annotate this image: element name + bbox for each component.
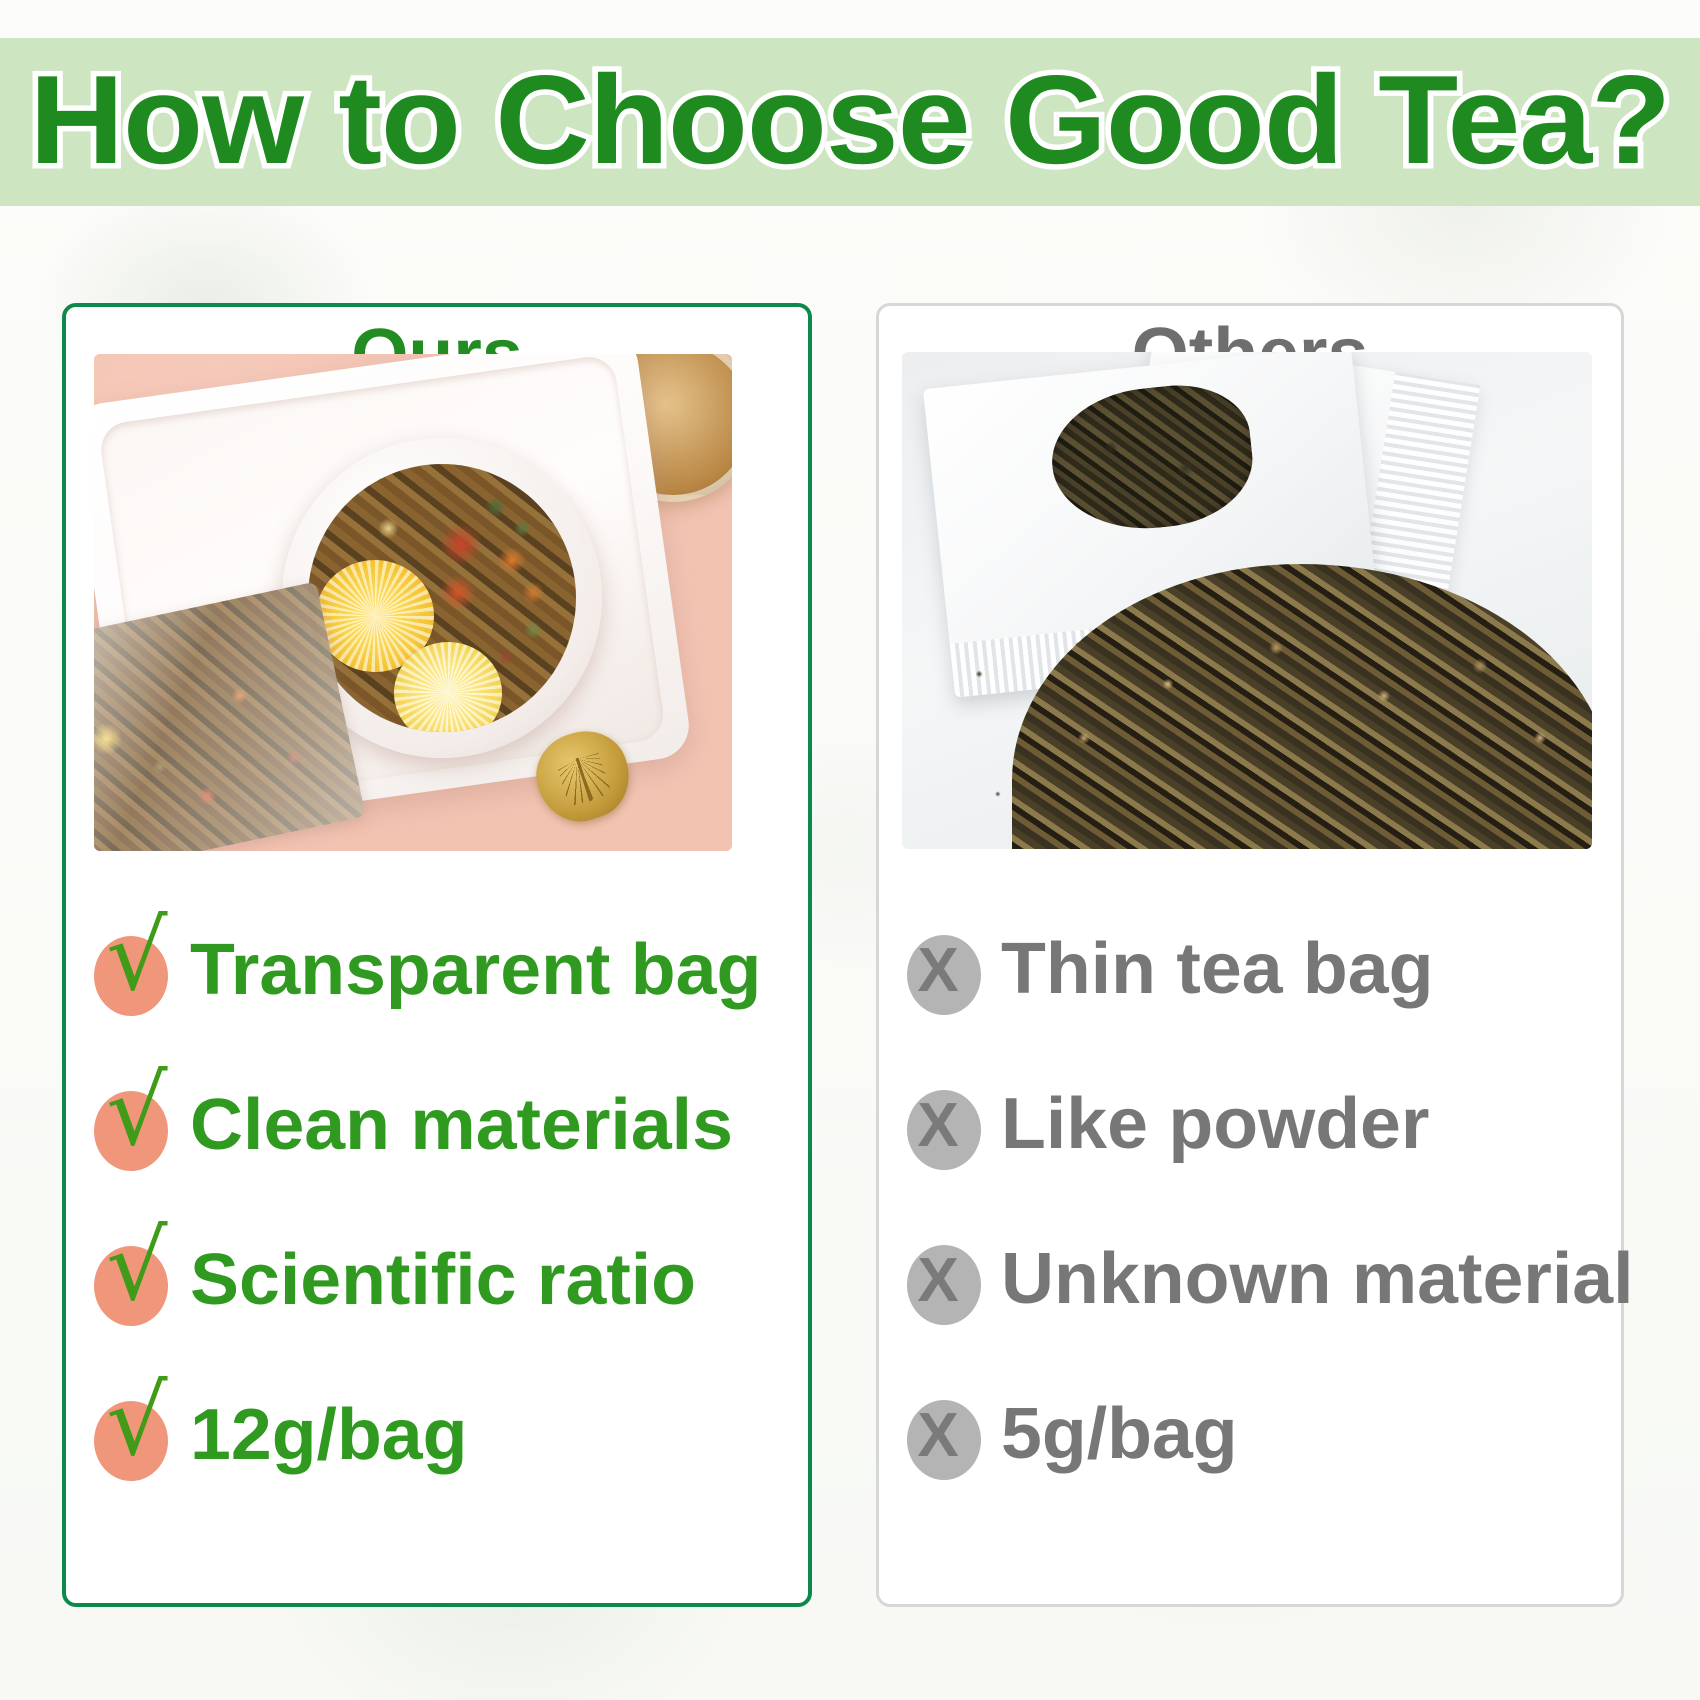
x-icon-glyph: X xyxy=(901,1392,975,1480)
card-ours: Ours xyxy=(62,303,812,1607)
check-icon: √ xyxy=(94,1081,168,1169)
list-item-label: Like powder xyxy=(1001,1088,1429,1160)
list-item-label: Scientific ratio xyxy=(190,1244,696,1316)
check-icon: √ xyxy=(94,1236,168,1324)
page-title: How to Choose Good Tea? xyxy=(30,57,1671,183)
check-icon: √ xyxy=(94,926,168,1014)
tea-bowl-inner xyxy=(308,464,576,732)
check-icon-glyph: √ xyxy=(100,1222,174,1310)
x-icon-glyph: X xyxy=(901,1082,975,1170)
card-others: Others X Thin tea bag X xyxy=(876,303,1624,1607)
comparison-infographic: How to Choose Good Tea? Ours xyxy=(0,0,1700,1700)
list-item: X Thin tea bag xyxy=(879,891,1621,1046)
x-icon: X xyxy=(907,1235,981,1323)
ours-photo-illustration xyxy=(94,354,732,851)
list-item: X Like powder xyxy=(879,1046,1621,1201)
list-item-label: Clean materials xyxy=(190,1089,733,1161)
check-icon: √ xyxy=(94,1391,168,1479)
x-icon-glyph: X xyxy=(901,1237,975,1325)
list-item: √ Clean materials xyxy=(66,1047,808,1202)
others-feature-list: X Thin tea bag X Like powder X Unknown m… xyxy=(879,891,1621,1511)
check-icon-glyph: √ xyxy=(100,1377,174,1465)
x-icon: X xyxy=(907,1080,981,1168)
list-item-label: Unknown material xyxy=(1001,1243,1634,1315)
ours-feature-list: √ Transparent bag √ Clean materials √ Sc… xyxy=(66,892,808,1512)
list-item-label: 5g/bag xyxy=(1001,1398,1238,1470)
list-item: X 5g/bag xyxy=(879,1356,1621,1511)
x-icon: X xyxy=(907,1390,981,1478)
photo-ours xyxy=(94,354,732,851)
list-item-label: 12g/bag xyxy=(190,1399,468,1471)
others-photo-illustration xyxy=(902,352,1592,849)
list-item: X Unknown material xyxy=(879,1201,1621,1356)
x-icon-glyph: X xyxy=(901,927,975,1015)
list-item-label: Thin tea bag xyxy=(1001,933,1434,1005)
list-item: √ Transparent bag xyxy=(66,892,808,1047)
photo-others xyxy=(902,352,1592,849)
x-icon: X xyxy=(907,925,981,1013)
list-item: √ 12g/bag xyxy=(66,1357,808,1512)
list-item-label: Transparent bag xyxy=(190,934,761,1006)
list-item: √ Scientific ratio xyxy=(66,1202,808,1357)
check-icon-glyph: √ xyxy=(100,1067,174,1155)
check-icon-glyph: √ xyxy=(100,912,174,1000)
header-band: How to Choose Good Tea? xyxy=(0,38,1700,206)
